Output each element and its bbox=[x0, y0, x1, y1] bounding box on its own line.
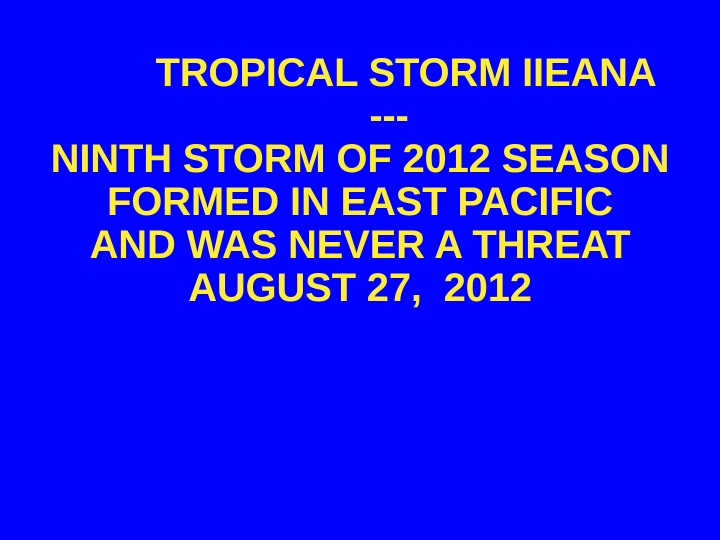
presentation-slide: TROPICAL STORM IIEANA --- NINTH STORM OF… bbox=[0, 0, 720, 540]
slide-line-formation-basin: FORMED IN EAST PACIFIC bbox=[0, 181, 720, 224]
slide-line-storm-number: NINTH STORM OF 2012 SEASON bbox=[0, 138, 720, 181]
slide-line-divider-rule: --- bbox=[0, 95, 720, 138]
slide-line-date: AUGUST 27, 2012 bbox=[0, 267, 720, 310]
slide-line-threat-status: AND WAS NEVER A THREAT bbox=[0, 224, 720, 267]
slide-line-storm-name: TROPICAL STORM IIEANA bbox=[0, 52, 720, 95]
slide-title-block: TROPICAL STORM IIEANA --- NINTH STORM OF… bbox=[0, 52, 720, 310]
